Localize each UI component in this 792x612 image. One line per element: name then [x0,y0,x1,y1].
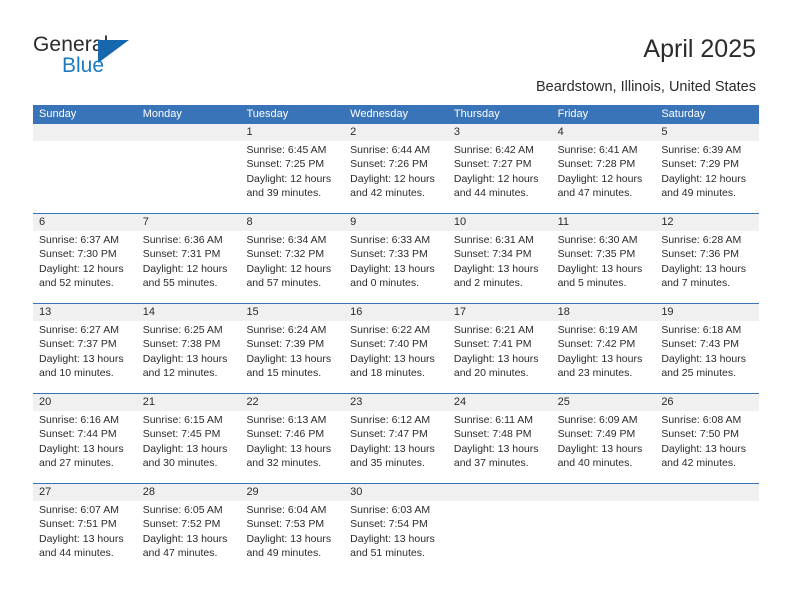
day-number[interactable]: 13 [33,304,137,321]
daylight-text-line2: and 35 minutes. [350,456,448,470]
day-cell[interactable]: Sunrise: 6:18 AMSunset: 7:43 PMDaylight:… [655,321,759,393]
sunset-text: Sunset: 7:47 PM [350,427,448,441]
sunset-text: Sunset: 7:45 PM [143,427,241,441]
sunrise-text: Sunrise: 6:05 AM [143,503,241,517]
daylight-text-line1: Daylight: 13 hours [558,442,656,456]
sunset-text: Sunset: 7:33 PM [350,247,448,261]
daylight-text-line2: and 39 minutes. [246,186,344,200]
sunset-text: Sunset: 7:31 PM [143,247,241,261]
daylight-text-line1: Daylight: 12 hours [246,172,344,186]
daylight-text-line1: Daylight: 13 hours [39,532,137,546]
daylight-text-line2: and 37 minutes. [454,456,552,470]
daylight-text-line2: and 0 minutes. [350,276,448,290]
day-cell[interactable]: Sunrise: 6:07 AMSunset: 7:51 PMDaylight:… [33,501,137,573]
day-cell[interactable]: Sunrise: 6:27 AMSunset: 7:37 PMDaylight:… [33,321,137,393]
day-cell[interactable]: Sunrise: 6:41 AMSunset: 7:28 PMDaylight:… [552,141,656,213]
week-date-band: 27282930 [33,484,759,501]
sunrise-text: Sunrise: 6:41 AM [558,143,656,157]
daylight-text-line1: Daylight: 13 hours [661,352,759,366]
day-cell-empty [33,141,137,213]
daylight-text-line2: and 12 minutes. [143,366,241,380]
day-cell[interactable]: Sunrise: 6:31 AMSunset: 7:34 PMDaylight:… [448,231,552,303]
sunrise-text: Sunrise: 6:07 AM [39,503,137,517]
daylight-text-line1: Daylight: 13 hours [454,442,552,456]
day-number[interactable]: 30 [344,484,448,501]
day-number[interactable]: 23 [344,394,448,411]
day-cell[interactable]: Sunrise: 6:15 AMSunset: 7:45 PMDaylight:… [137,411,241,483]
weekday-header-sunday: Sunday [33,105,137,124]
daylight-text-line2: and 7 minutes. [661,276,759,290]
daylight-text-line1: Daylight: 13 hours [143,532,241,546]
sunrise-text: Sunrise: 6:45 AM [246,143,344,157]
sunset-text: Sunset: 7:38 PM [143,337,241,351]
day-cell[interactable]: Sunrise: 6:03 AMSunset: 7:54 PMDaylight:… [344,501,448,573]
sunset-text: Sunset: 7:52 PM [143,517,241,531]
sunset-text: Sunset: 7:40 PM [350,337,448,351]
weekday-header-friday: Friday [552,105,656,124]
daylight-text-line2: and 51 minutes. [350,546,448,560]
day-cell[interactable]: Sunrise: 6:45 AMSunset: 7:25 PMDaylight:… [240,141,344,213]
day-number[interactable]: 10 [448,214,552,231]
sunrise-text: Sunrise: 6:12 AM [350,413,448,427]
daylight-text-line2: and 5 minutes. [558,276,656,290]
sunset-text: Sunset: 7:39 PM [246,337,344,351]
daylight-text-line2: and 47 minutes. [143,546,241,560]
daylight-text-line1: Daylight: 13 hours [350,352,448,366]
day-cell[interactable]: Sunrise: 6:13 AMSunset: 7:46 PMDaylight:… [240,411,344,483]
daylight-text-line2: and 42 minutes. [350,186,448,200]
daylight-text-line1: Daylight: 13 hours [39,442,137,456]
week-body-row: Sunrise: 6:37 AMSunset: 7:30 PMDaylight:… [33,231,759,303]
sunrise-text: Sunrise: 6:22 AM [350,323,448,337]
day-number[interactable]: 25 [552,394,656,411]
week-date-band: 12345 [33,124,759,141]
daylight-text-line2: and 10 minutes. [39,366,137,380]
day-number[interactable]: 26 [655,394,759,411]
day-number[interactable]: 6 [33,214,137,231]
day-number[interactable]: 9 [344,214,448,231]
daylight-text-line1: Daylight: 12 hours [454,172,552,186]
daylight-text-line1: Daylight: 12 hours [143,262,241,276]
sunset-text: Sunset: 7:27 PM [454,157,552,171]
day-cell[interactable]: Sunrise: 6:08 AMSunset: 7:50 PMDaylight:… [655,411,759,483]
week-date-band: 20212223242526 [33,394,759,411]
sunset-text: Sunset: 7:42 PM [558,337,656,351]
logo-text-blue: Blue [62,54,104,78]
sunset-text: Sunset: 7:26 PM [350,157,448,171]
sunset-text: Sunset: 7:36 PM [661,247,759,261]
day-number[interactable]: 14 [137,304,241,321]
sunrise-text: Sunrise: 6:25 AM [143,323,241,337]
weekday-header-saturday: Saturday [655,105,759,124]
day-cell[interactable]: Sunrise: 6:36 AMSunset: 7:31 PMDaylight:… [137,231,241,303]
weekday-header-wednesday: Wednesday [344,105,448,124]
day-cell[interactable]: Sunrise: 6:16 AMSunset: 7:44 PMDaylight:… [33,411,137,483]
daylight-text-line1: Daylight: 13 hours [661,262,759,276]
sunrise-text: Sunrise: 6:34 AM [246,233,344,247]
calendar-week-row: 27282930Sunrise: 6:07 AMSunset: 7:51 PMD… [33,483,759,573]
sunrise-text: Sunrise: 6:04 AM [246,503,344,517]
day-number-empty [448,484,552,501]
sunrise-text: Sunrise: 6:27 AM [39,323,137,337]
daylight-text-line1: Daylight: 13 hours [661,442,759,456]
day-cell-empty [655,501,759,573]
day-cell[interactable]: Sunrise: 6:04 AMSunset: 7:53 PMDaylight:… [240,501,344,573]
day-number[interactable]: 11 [552,214,656,231]
sunset-text: Sunset: 7:30 PM [39,247,137,261]
day-cell[interactable]: Sunrise: 6:19 AMSunset: 7:42 PMDaylight:… [552,321,656,393]
day-number[interactable]: 20 [33,394,137,411]
day-cell-empty [137,141,241,213]
sunset-text: Sunset: 7:28 PM [558,157,656,171]
daylight-text-line2: and 52 minutes. [39,276,137,290]
calendar-week-row: 13141516171819Sunrise: 6:27 AMSunset: 7:… [33,303,759,393]
day-cell[interactable]: Sunrise: 6:05 AMSunset: 7:52 PMDaylight:… [137,501,241,573]
daylight-text-line2: and 49 minutes. [661,186,759,200]
daylight-text-line2: and 15 minutes. [246,366,344,380]
daylight-text-line2: and 40 minutes. [558,456,656,470]
day-cell[interactable]: Sunrise: 6:42 AMSunset: 7:27 PMDaylight:… [448,141,552,213]
sunset-text: Sunset: 7:53 PM [246,517,344,531]
sunrise-text: Sunrise: 6:16 AM [39,413,137,427]
calendar-week-row: 20212223242526Sunrise: 6:16 AMSunset: 7:… [33,393,759,483]
sunrise-text: Sunrise: 6:28 AM [661,233,759,247]
daylight-text-line2: and 32 minutes. [246,456,344,470]
daylight-text-line2: and 42 minutes. [661,456,759,470]
daylight-text-line2: and 27 minutes. [39,456,137,470]
daylight-text-line1: Daylight: 13 hours [350,442,448,456]
day-number[interactable]: 7 [137,214,241,231]
day-cell[interactable]: Sunrise: 6:11 AMSunset: 7:48 PMDaylight:… [448,411,552,483]
day-number-empty [552,484,656,501]
daylight-text-line2: and 44 minutes. [39,546,137,560]
day-number[interactable]: 8 [240,214,344,231]
sunrise-text: Sunrise: 6:13 AM [246,413,344,427]
daylight-text-line1: Daylight: 13 hours [558,352,656,366]
weekday-header-tuesday: Tuesday [240,105,344,124]
sunrise-text: Sunrise: 6:11 AM [454,413,552,427]
daylight-text-line1: Daylight: 12 hours [246,262,344,276]
sunrise-text: Sunrise: 6:08 AM [661,413,759,427]
daylight-text-line2: and 30 minutes. [143,456,241,470]
day-cell-empty [448,501,552,573]
daylight-text-line2: and 23 minutes. [558,366,656,380]
calendar-week-row: 12345Sunrise: 6:45 AMSunset: 7:25 PMDayl… [33,124,759,213]
daylight-text-line2: and 55 minutes. [143,276,241,290]
day-number[interactable]: 27 [33,484,137,501]
daylight-text-line1: Daylight: 13 hours [39,352,137,366]
daylight-text-line2: and 25 minutes. [661,366,759,380]
daylight-text-line1: Daylight: 13 hours [454,262,552,276]
sunrise-text: Sunrise: 6:33 AM [350,233,448,247]
week-date-band: 6789101112 [33,214,759,231]
day-cell[interactable]: Sunrise: 6:28 AMSunset: 7:36 PMDaylight:… [655,231,759,303]
daylight-text-line1: Daylight: 13 hours [246,532,344,546]
daylight-text-line1: Daylight: 12 hours [558,172,656,186]
week-body-row: Sunrise: 6:27 AMSunset: 7:37 PMDaylight:… [33,321,759,393]
sunrise-text: Sunrise: 6:19 AM [558,323,656,337]
calendar-weeks: 12345Sunrise: 6:45 AMSunset: 7:25 PMDayl… [33,124,759,573]
sunrise-text: Sunrise: 6:21 AM [454,323,552,337]
sunset-text: Sunset: 7:41 PM [454,337,552,351]
weekday-header-monday: Monday [137,105,241,124]
calendar-table: Sunday Monday Tuesday Wednesday Thursday… [33,105,759,573]
daylight-text-line1: Daylight: 12 hours [39,262,137,276]
day-number[interactable]: 2 [344,124,448,141]
week-body-row: Sunrise: 6:45 AMSunset: 7:25 PMDaylight:… [33,141,759,213]
daylight-text-line1: Daylight: 13 hours [143,352,241,366]
sunset-text: Sunset: 7:29 PM [661,157,759,171]
daylight-text-line1: Daylight: 12 hours [350,172,448,186]
day-number[interactable]: 18 [552,304,656,321]
daylight-text-line1: Daylight: 13 hours [558,262,656,276]
day-cell[interactable]: Sunrise: 6:34 AMSunset: 7:32 PMDaylight:… [240,231,344,303]
day-cell[interactable]: Sunrise: 6:25 AMSunset: 7:38 PMDaylight:… [137,321,241,393]
day-cell[interactable]: Sunrise: 6:12 AMSunset: 7:47 PMDaylight:… [344,411,448,483]
daylight-text-line2: and 2 minutes. [454,276,552,290]
daylight-text-line1: Daylight: 13 hours [143,442,241,456]
day-number[interactable]: 3 [448,124,552,141]
sunrise-text: Sunrise: 6:30 AM [558,233,656,247]
calendar-page: General Blue April 2025 Beardstown, Illi… [0,0,792,612]
day-cell[interactable]: Sunrise: 6:30 AMSunset: 7:35 PMDaylight:… [552,231,656,303]
daylight-text-line2: and 20 minutes. [454,366,552,380]
day-number[interactable]: 22 [240,394,344,411]
sunset-text: Sunset: 7:46 PM [246,427,344,441]
sunrise-text: Sunrise: 6:09 AM [558,413,656,427]
day-number[interactable]: 28 [137,484,241,501]
day-cell[interactable]: Sunrise: 6:33 AMSunset: 7:33 PMDaylight:… [344,231,448,303]
calendar-week-row: 6789101112Sunrise: 6:37 AMSunset: 7:30 P… [33,213,759,303]
day-number-empty [655,484,759,501]
day-cell[interactable]: Sunrise: 6:21 AMSunset: 7:41 PMDaylight:… [448,321,552,393]
sunrise-text: Sunrise: 6:42 AM [454,143,552,157]
day-cell[interactable]: Sunrise: 6:22 AMSunset: 7:40 PMDaylight:… [344,321,448,393]
day-number[interactable]: 15 [240,304,344,321]
sunrise-text: Sunrise: 6:44 AM [350,143,448,157]
daylight-text-line1: Daylight: 13 hours [246,352,344,366]
sunset-text: Sunset: 7:51 PM [39,517,137,531]
sunrise-text: Sunrise: 6:24 AM [246,323,344,337]
sunrise-text: Sunrise: 6:03 AM [350,503,448,517]
day-number-empty [33,124,137,141]
daylight-text-line2: and 18 minutes. [350,366,448,380]
sunset-text: Sunset: 7:50 PM [661,427,759,441]
weekday-header-thursday: Thursday [448,105,552,124]
daylight-text-line2: and 49 minutes. [246,546,344,560]
day-number[interactable]: 12 [655,214,759,231]
day-number[interactable]: 5 [655,124,759,141]
sunrise-text: Sunrise: 6:15 AM [143,413,241,427]
sunrise-text: Sunrise: 6:37 AM [39,233,137,247]
sunset-text: Sunset: 7:49 PM [558,427,656,441]
day-cell[interactable]: Sunrise: 6:09 AMSunset: 7:49 PMDaylight:… [552,411,656,483]
day-number[interactable]: 19 [655,304,759,321]
page-subtitle-location: Beardstown, Illinois, United States [536,78,756,96]
day-cell[interactable]: Sunrise: 6:44 AMSunset: 7:26 PMDaylight:… [344,141,448,213]
week-body-row: Sunrise: 6:16 AMSunset: 7:44 PMDaylight:… [33,411,759,483]
sunrise-text: Sunrise: 6:18 AM [661,323,759,337]
sunset-text: Sunset: 7:48 PM [454,427,552,441]
sunrise-text: Sunrise: 6:31 AM [454,233,552,247]
page-header: General Blue April 2025 Beardstown, Illi… [0,0,792,100]
daylight-text-line2: and 47 minutes. [558,186,656,200]
sunrise-text: Sunrise: 6:36 AM [143,233,241,247]
daylight-text-line1: Daylight: 13 hours [350,262,448,276]
sunset-text: Sunset: 7:32 PM [246,247,344,261]
sunset-text: Sunset: 7:43 PM [661,337,759,351]
daylight-text-line1: Daylight: 12 hours [661,172,759,186]
day-cell[interactable]: Sunrise: 6:39 AMSunset: 7:29 PMDaylight:… [655,141,759,213]
week-date-band: 13141516171819 [33,304,759,321]
daylight-text-line2: and 44 minutes. [454,186,552,200]
sunset-text: Sunset: 7:25 PM [246,157,344,171]
day-number[interactable]: 16 [344,304,448,321]
day-number[interactable]: 17 [448,304,552,321]
general-blue-logo[interactable]: General Blue [33,33,153,81]
daylight-text-line2: and 57 minutes. [246,276,344,290]
sunset-text: Sunset: 7:35 PM [558,247,656,261]
day-number[interactable]: 4 [552,124,656,141]
sunset-text: Sunset: 7:44 PM [39,427,137,441]
daylight-text-line1: Daylight: 13 hours [454,352,552,366]
daylight-text-line1: Daylight: 13 hours [350,532,448,546]
day-number[interactable]: 29 [240,484,344,501]
sunrise-text: Sunrise: 6:39 AM [661,143,759,157]
sunset-text: Sunset: 7:34 PM [454,247,552,261]
week-body-row: Sunrise: 6:07 AMSunset: 7:51 PMDaylight:… [33,501,759,573]
day-number[interactable]: 24 [448,394,552,411]
day-number-empty [137,124,241,141]
day-number[interactable]: 21 [137,394,241,411]
sunset-text: Sunset: 7:37 PM [39,337,137,351]
weekday-header-row: Sunday Monday Tuesday Wednesday Thursday… [33,105,759,124]
day-cell-empty [552,501,656,573]
daylight-text-line1: Daylight: 13 hours [246,442,344,456]
day-number[interactable]: 1 [240,124,344,141]
day-cell[interactable]: Sunrise: 6:37 AMSunset: 7:30 PMDaylight:… [33,231,137,303]
sunset-text: Sunset: 7:54 PM [350,517,448,531]
page-title: April 2025 [643,34,756,64]
day-cell[interactable]: Sunrise: 6:24 AMSunset: 7:39 PMDaylight:… [240,321,344,393]
